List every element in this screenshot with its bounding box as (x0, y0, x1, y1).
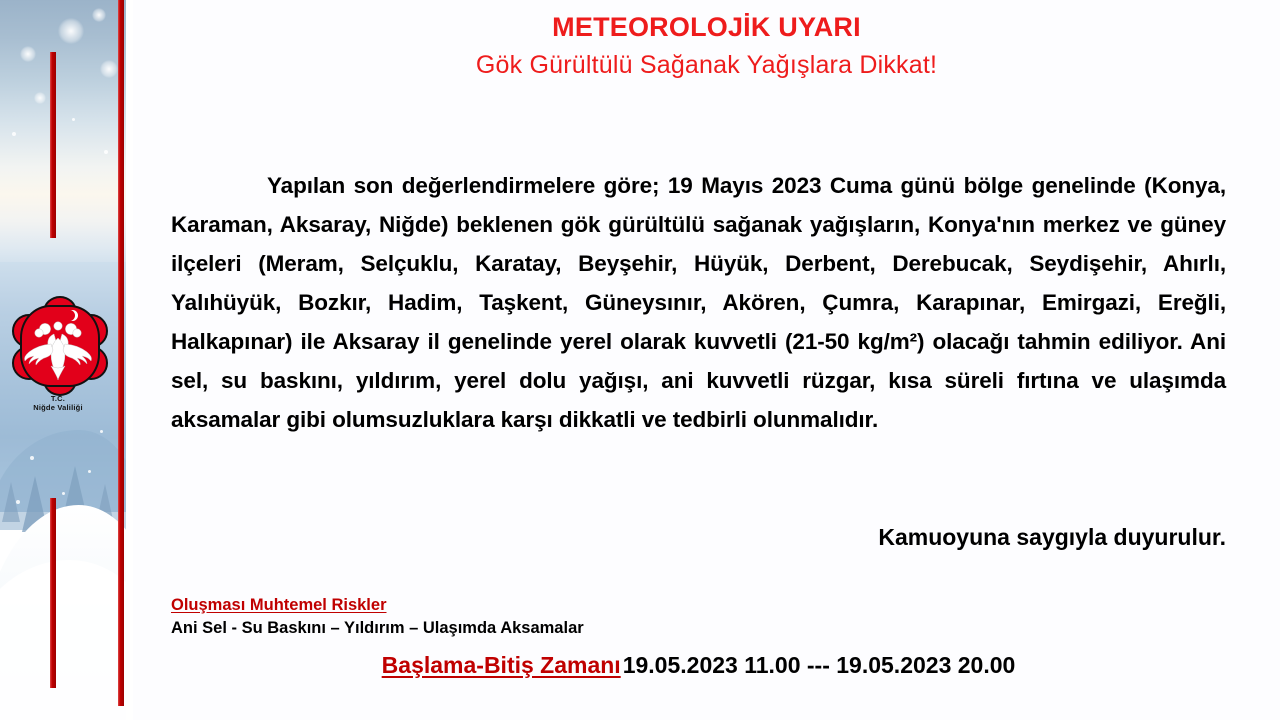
page-subtitle: Gök Gürültülü Sağanak Yağışlara Dikkat! (133, 43, 1280, 80)
snowflake-icon (16, 500, 20, 504)
snowflake-icon (12, 132, 16, 136)
emblem-caption-line2: Niğde Valiliği (8, 404, 108, 413)
snowflake-icon (62, 492, 65, 495)
emblem-block: T.C. Niğde Valiliği (8, 296, 108, 412)
snowflake-icon (104, 150, 108, 154)
snow-bokeh-icon (92, 8, 106, 22)
weather-warning-poster: T.C. Niğde Valiliği METEOROLOJİK UYARI G… (0, 0, 1280, 720)
body-block: Yapılan son değerlendirmelere göre; 19 M… (171, 166, 1226, 439)
page-title: METEOROLOJİK UYARI (133, 0, 1280, 43)
snowflake-icon (72, 118, 75, 121)
nigde-governorship-crest-icon (12, 296, 104, 392)
snow-bokeh-icon (34, 92, 46, 104)
crescent-icon (64, 310, 75, 321)
emblem-caption: T.C. Niğde Valiliği (8, 395, 108, 412)
timing-value: 19.05.2023 11.00 --- 19.05.2023 20.00 (621, 652, 1016, 678)
risks-block: Oluşması Muhtemel Riskler Ani Sel - Su B… (171, 596, 1226, 638)
red-vertical-rule-bottom (50, 498, 56, 688)
snowflake-icon (30, 456, 34, 460)
announcement-content: METEOROLOJİK UYARI Gök Gürültülü Sağanak… (133, 0, 1280, 720)
snow-bokeh-icon (20, 46, 36, 62)
snow-bank-foreground-shape (0, 560, 126, 720)
risks-list: Ani Sel - Su Baskını – Yıldırım – Ulaşım… (171, 619, 1226, 638)
announcement-body: Yapılan son değerlendirmelere göre; 19 M… (171, 166, 1226, 439)
timing-row: Başlama-Bitiş Zamanı19.05.2023 11.00 ---… (171, 652, 1226, 679)
timing-label: Başlama-Bitiş Zamanı (382, 652, 621, 678)
snowflake-icon (88, 470, 91, 473)
risks-heading: Oluşması Muhtemel Riskler (171, 596, 1226, 615)
snow-bokeh-icon (58, 18, 84, 44)
snow-bokeh-icon (100, 60, 118, 78)
red-vertical-rule-long (118, 0, 124, 706)
red-vertical-rule-top (50, 52, 56, 238)
snowflake-icon (100, 430, 103, 433)
closing-statement: Kamuoyuna saygıyla duyurulur. (171, 524, 1240, 551)
decorative-winter-sidebar: T.C. Niğde Valiliği (0, 0, 126, 720)
